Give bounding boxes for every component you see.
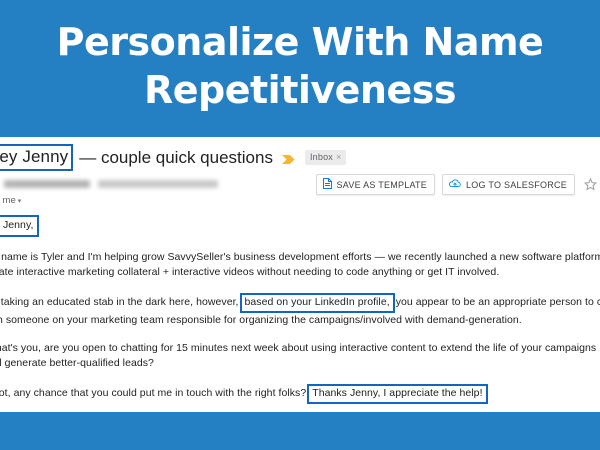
banner-title: Personalize With Name Repetitiveness (0, 18, 600, 114)
screenshot-root: Personalize With Name Repetitiveness Hey… (0, 0, 600, 450)
inbox-label-chip[interactable]: Inbox× (305, 150, 347, 165)
email-paragraph-3: If that's you, are you open to chatting … (0, 341, 600, 371)
paragraph-2-line-2: with someone on your marketing team resp… (0, 314, 522, 326)
cloud-upload-icon (449, 178, 461, 191)
greeting-name-highlight: Hi Jenny, (0, 215, 39, 237)
email-toolbar: SAVE AS TEMPLATE LOG TO SALESFORCE (316, 174, 599, 195)
recipients-label: to me (0, 195, 16, 206)
paragraph-4-pre: If not, any chance that you could put me… (0, 387, 306, 399)
chevron-down-icon[interactable]: ▾ (18, 198, 22, 205)
email-body: Hi Jenny, My name is Tyler and I'm helpi… (0, 215, 600, 412)
banner-title-line-1: Personalize With Name (0, 18, 600, 66)
subject-name-highlight: Hey Jenny (0, 144, 73, 171)
save-as-template-label: SAVE AS TEMPLATE (337, 180, 428, 190)
email-subject-row: Hey Jenny — couple quick questions Inbox… (0, 144, 502, 171)
inbox-label-text: Inbox (310, 152, 333, 162)
banner-title-line-2: Repetitiveness (0, 66, 600, 114)
save-as-template-button[interactable]: SAVE AS TEMPLATE (316, 174, 436, 195)
paragraph-1-line-2: create interactive marketing collateral … (0, 266, 499, 278)
log-to-salesforce-label: LOG TO SALESFORCE (466, 180, 567, 190)
document-icon (323, 178, 332, 191)
log-to-salesforce-button[interactable]: LOG TO SALESFORCE (442, 174, 575, 195)
thanks-jenny-highlight: Thanks Jenny, I appreciate the help! (307, 384, 487, 404)
paragraph-3-line-2: and generate better-qualified leads? (0, 357, 154, 369)
paragraph-2-post: you appear to be an appropriate person t… (396, 296, 600, 308)
paragraph-1-line-1: My name is Tyler and I'm helping grow Sa… (0, 251, 600, 263)
inbox-label-remove-icon[interactable]: × (336, 152, 341, 162)
bottom-banner (0, 412, 600, 450)
email-paragraph-4: If not, any chance that you could put me… (0, 384, 600, 404)
paragraph-2-pre: I'm taking an educated stab in the dark … (0, 296, 239, 308)
linkedin-profile-highlight: based on your LinkedIn profile, (240, 293, 395, 313)
recipients-row[interactable]: to me▾ (0, 195, 21, 206)
star-outline-icon[interactable] (583, 177, 598, 192)
email-paragraph-2: I'm taking an educated stab in the dark … (0, 293, 600, 328)
paragraph-3-line-1: If that's you, are you open to chatting … (0, 342, 596, 354)
title-banner: Personalize With Name Repetitiveness (0, 0, 600, 137)
sender-name-redacted (4, 180, 90, 188)
sender-email-redacted (98, 180, 218, 188)
subject-text: — couple quick questions (79, 148, 273, 168)
important-arrow-icon[interactable] (282, 152, 295, 163)
sender-row (0, 175, 218, 192)
email-paragraph-1: My name is Tyler and I'm helping grow Sa… (0, 250, 600, 280)
email-client-area: Hey Jenny — couple quick questions Inbox… (0, 137, 600, 412)
email-greeting-paragraph: Hi Jenny, (0, 215, 600, 237)
